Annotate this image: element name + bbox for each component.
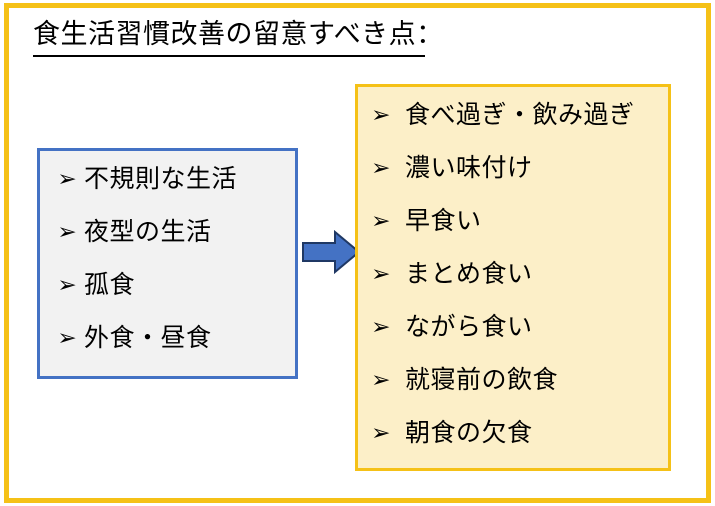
right-content-box: ➢ 食べ過ぎ・飲み過ぎ ➢ 濃い味付け ➢ 早食い ➢ まとめ食い ➢ ながら食… [355, 84, 671, 471]
list-item: ➢ 早食い [372, 207, 482, 237]
arrowhead-bullet-icon: ➢ [371, 264, 406, 286]
list-item-label: 朝食の欠食 [405, 419, 533, 449]
list-item-label: 早食い [405, 207, 482, 237]
list-item-label: 外食・昼食 [84, 324, 212, 354]
list-item: ➢ 濃い味付け [372, 154, 533, 184]
list-item: ➢ 朝食の欠食 [372, 419, 533, 449]
list-item-label: 孤食 [84, 271, 135, 301]
arrowhead-bullet-icon: ➢ [57, 328, 84, 350]
arrowhead-bullet-icon: ➢ [371, 105, 406, 127]
arrowhead-bullet-icon: ➢ [371, 158, 406, 180]
arrowhead-bullet-icon: ➢ [57, 275, 84, 297]
list-item: ➢ 食べ過ぎ・飲み過ぎ [372, 101, 635, 131]
list-item-label: 濃い味付け [405, 154, 533, 184]
arrowhead-bullet-icon: ➢ [371, 370, 406, 392]
title-underline [33, 55, 425, 57]
arrowhead-bullet-icon: ➢ [371, 211, 406, 233]
list-item: ➢ 就寝前の飲食 [372, 366, 558, 396]
list-item: ➢ まとめ食い [372, 260, 533, 290]
list-item: ➢ 不規則な生活 [58, 165, 237, 195]
list-item: ➢ 夜型の生活 [58, 218, 212, 248]
list-item-label: まとめ食い [405, 260, 533, 290]
left-content-box: ➢ 不規則な生活 ➢ 夜型の生活 ➢ 孤食 ➢ 外食・昼食 [37, 148, 298, 379]
arrowhead-bullet-icon: ➢ [371, 317, 406, 339]
left-bullet-list: ➢ 不規則な生活 ➢ 夜型の生活 ➢ 孤食 ➢ 外食・昼食 [40, 151, 295, 376]
list-item: ➢ 孤食 [58, 271, 135, 301]
arrowhead-bullet-icon: ➢ [371, 423, 406, 445]
list-item: ➢ 外食・昼食 [58, 324, 212, 354]
list-item-label: 不規則な生活 [84, 165, 237, 195]
right-arrow-icon [302, 230, 360, 274]
list-item-label: 夜型の生活 [84, 218, 212, 248]
slide-canvas: 食生活習慣改善の留意すべき点： ➢ 不規則な生活 ➢ 夜型の生活 ➢ 孤食 ➢ … [0, 0, 715, 506]
right-bullet-list: ➢ 食べ過ぎ・飲み過ぎ ➢ 濃い味付け ➢ 早食い ➢ まとめ食い ➢ ながら食… [358, 87, 668, 468]
list-item-label: ながら食い [405, 313, 533, 343]
list-item-label: 食べ過ぎ・飲み過ぎ [405, 101, 635, 131]
list-item: ➢ ながら食い [372, 313, 533, 343]
list-item-label: 就寝前の飲食 [405, 366, 558, 396]
arrowhead-bullet-icon: ➢ [57, 222, 84, 244]
page-title: 食生活習慣改善の留意すべき点： [33, 16, 444, 52]
arrowhead-bullet-icon: ➢ [57, 169, 84, 191]
